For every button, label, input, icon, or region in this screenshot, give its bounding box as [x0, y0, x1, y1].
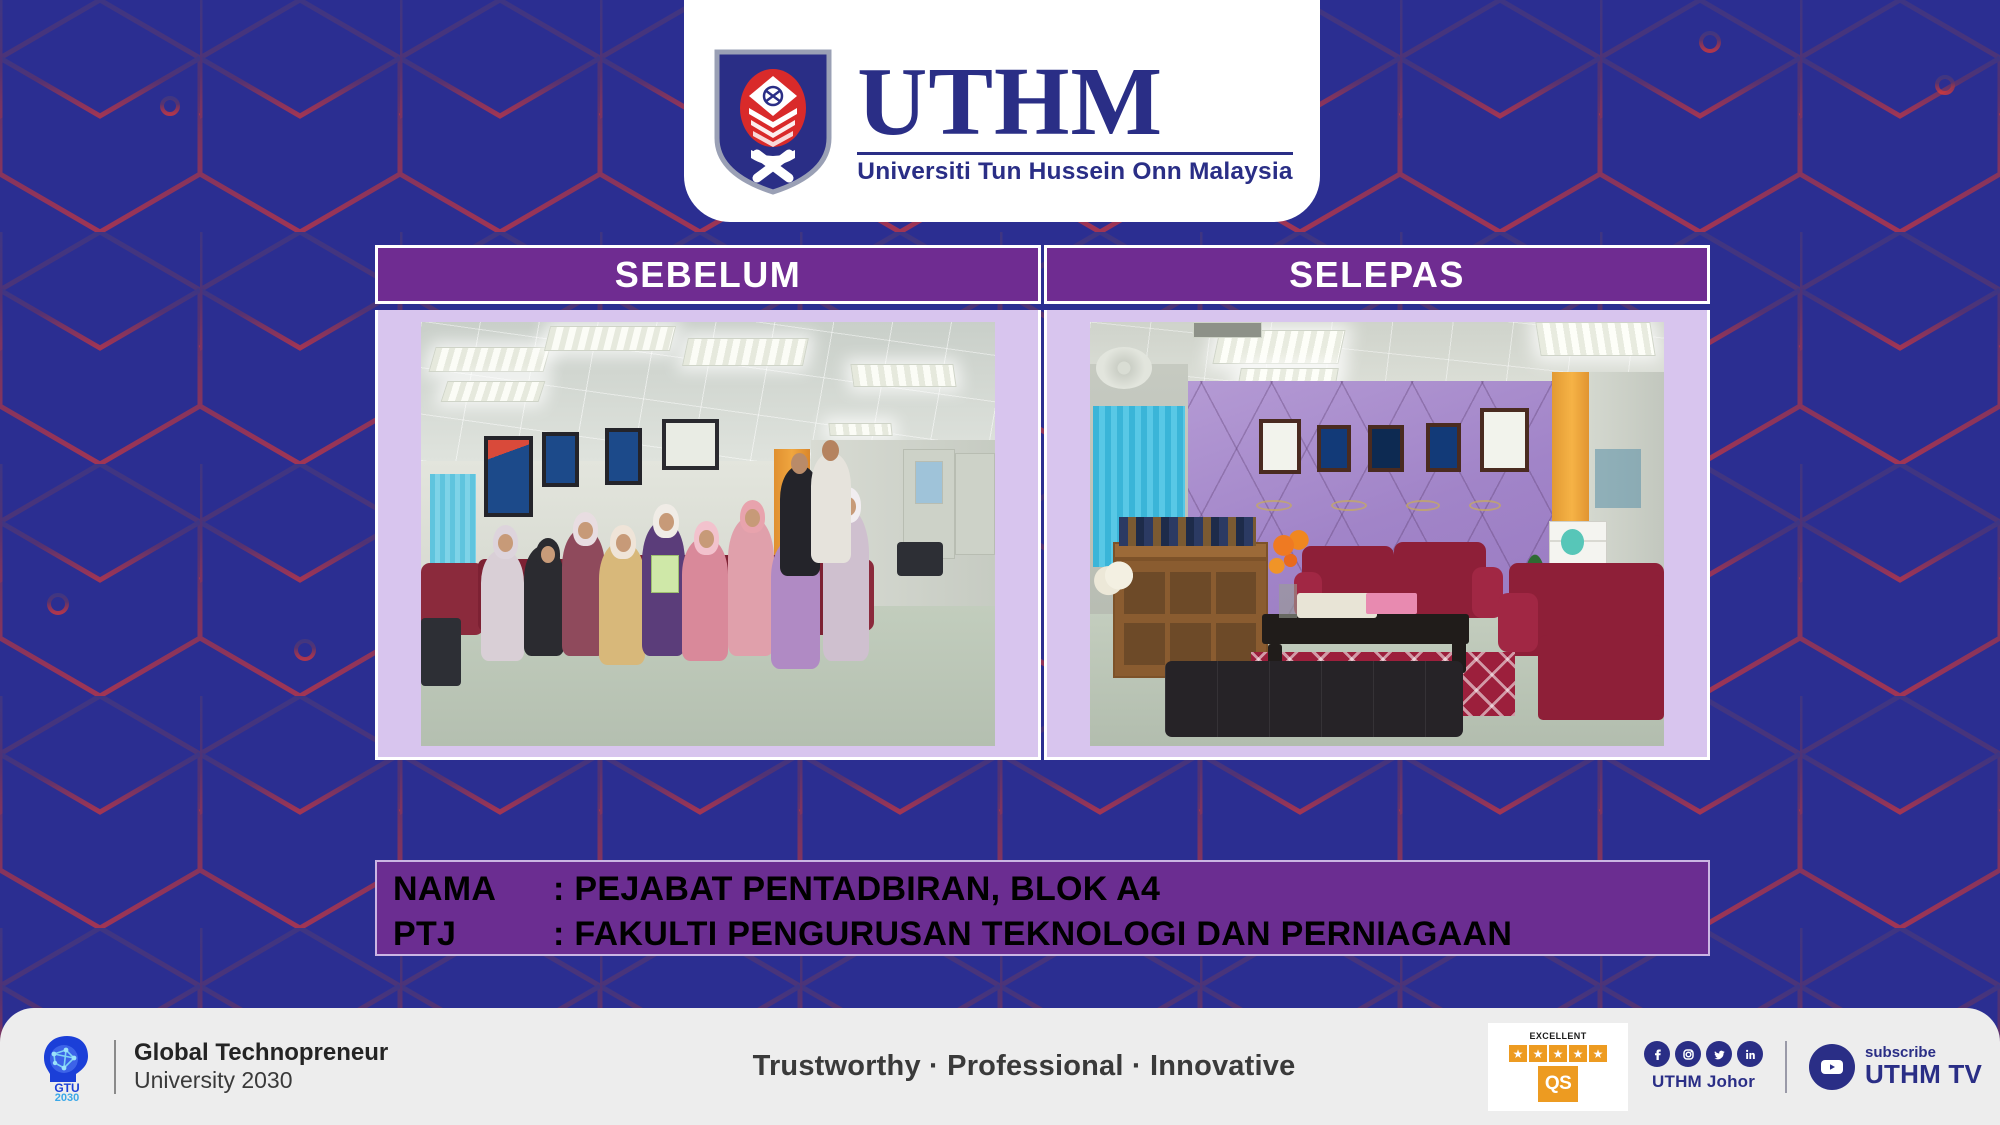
caption-key-nama: NAMA	[393, 870, 553, 909]
caption-value-ptj: : FAKULTI PENGURUSAN TEKNOLOGI DAN PERNI…	[553, 915, 1512, 954]
after-photo-renovated-lounge	[1090, 322, 1664, 746]
star-icon: ★	[1589, 1045, 1607, 1062]
star-icon: ★	[1549, 1045, 1567, 1062]
caption-box: NAMA : PEJABAT PENTADBIRAN, BLOK A4 PTJ …	[375, 860, 1710, 956]
uthm-wordmark: UTHM	[857, 56, 1292, 148]
column-body-sebelum	[375, 310, 1041, 760]
caption-row-nama: NAMA : PEJABAT PENTADBIRAN, BLOK A4	[393, 870, 1708, 915]
column-header-selepas: SELEPAS	[1044, 245, 1710, 304]
facebook-icon[interactable]	[1644, 1041, 1670, 1067]
qs-star-row: ★ ★ ★ ★ ★	[1509, 1045, 1607, 1062]
footer-left-group: GTU 2030 Global Technopreneur University…	[0, 1032, 560, 1102]
svg-text:2030: 2030	[55, 1092, 79, 1102]
qs-logo-mark: QS	[1538, 1066, 1578, 1102]
footer-bar: GTU 2030 Global Technopreneur University…	[0, 1008, 2000, 1125]
linkedin-icon[interactable]	[1737, 1041, 1763, 1067]
footer-divider-right	[1785, 1041, 1787, 1093]
gtu-subtitle: University 2030	[134, 1067, 388, 1094]
gtu-2030-head-network-icon: GTU 2030	[38, 1032, 96, 1102]
before-photo-office-lobby	[421, 322, 995, 746]
footer-right-group: EXCELLENT ★ ★ ★ ★ ★ QS	[1488, 1023, 2000, 1111]
youtube-play-icon[interactable]	[1809, 1044, 1855, 1090]
footer-tagline: Trustworthy · Professional · Innovative	[753, 1050, 1296, 1083]
caption-row-ptj: PTJ : FAKULTI PENGURUSAN TEKNOLOGI DAN P…	[393, 915, 1708, 960]
caption-value-nama: : PEJABAT PENTADBIRAN, BLOK A4	[553, 870, 1160, 909]
column-label-selepas: SELEPAS	[1289, 254, 1465, 296]
star-icon: ★	[1569, 1045, 1587, 1062]
instagram-icon[interactable]	[1675, 1041, 1701, 1067]
comparison-column-after: SELEPAS	[1044, 245, 1710, 760]
caption-key-ptj: PTJ	[393, 915, 553, 954]
column-label-sebelum: SEBELUM	[615, 254, 802, 296]
social-media-group[interactable]: UTHM Johor	[1644, 1041, 1763, 1092]
twitter-icon[interactable]	[1706, 1041, 1732, 1067]
column-body-selepas	[1044, 310, 1710, 760]
comparison-column-before: SEBELUM	[375, 245, 1041, 760]
gtu-title: Global Technopreneur	[134, 1039, 388, 1067]
star-icon: ★	[1509, 1045, 1527, 1062]
wordmark-rule	[857, 152, 1292, 155]
uthm-logo-card: UTHM Universiti Tun Hussein Onn Malaysia	[684, 0, 1320, 222]
footer-center-group: Trustworthy · Professional · Innovative	[560, 1050, 1488, 1083]
social-icon-row[interactable]	[1644, 1041, 1763, 1067]
column-header-sebelum: SEBELUM	[375, 245, 1041, 304]
social-label: UTHM Johor	[1652, 1072, 1755, 1092]
star-icon: ★	[1529, 1045, 1547, 1062]
youtube-channel-name: UTHM TV	[1865, 1061, 1982, 1088]
uthm-subtitle: Universiti Tun Hussein Onn Malaysia	[857, 158, 1292, 186]
uthm-crest-icon	[711, 46, 835, 196]
qs-rating-badge: EXCELLENT ★ ★ ★ ★ ★ QS	[1488, 1023, 1628, 1111]
youtube-subscribe-group[interactable]: subscribe UTHM TV	[1809, 1044, 1982, 1090]
footer-divider-left	[114, 1040, 116, 1094]
qs-rating-label: EXCELLENT	[1529, 1031, 1586, 1041]
